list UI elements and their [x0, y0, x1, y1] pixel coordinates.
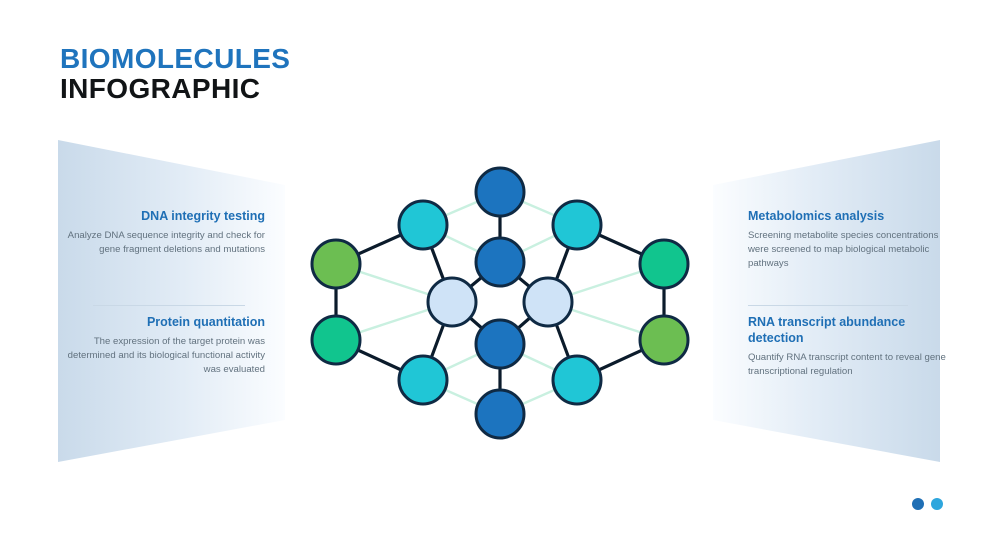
page-indicator-dots[interactable] — [912, 498, 943, 510]
card-rna-title: RNA transcript abundance detection — [748, 314, 950, 346]
node-cyan-upper-left[interactable] — [399, 201, 447, 249]
right-panel-content: Metabolomics analysis Screening metaboli… — [748, 130, 993, 475]
page-dot-inactive[interactable] — [931, 498, 943, 510]
molecule-network-diagram — [300, 152, 700, 448]
node-cyan-lower-right[interactable] — [553, 356, 601, 404]
node-green-outer-upper-right[interactable] — [640, 240, 688, 288]
node-green-outer-lower-left[interactable] — [312, 316, 360, 364]
page-dot-active[interactable] — [912, 498, 924, 510]
card-protein-quantitation: Protein quantitation The expression of t… — [63, 314, 265, 377]
node-dark-blue-top[interactable] — [476, 168, 524, 216]
card-rna-body: Quantify RNA transcript content to revea… — [748, 351, 950, 379]
card-metabolomics-analysis: Metabolomics analysis Screening metaboli… — [748, 208, 950, 271]
card-dna-integrity-testing: DNA integrity testing Analyze DNA sequen… — [63, 208, 265, 257]
card-dna-body: Analyze DNA sequence integrity and check… — [63, 229, 265, 257]
card-metabolomics-title: Metabolomics analysis — [748, 208, 950, 224]
card-protein-body: The expression of the target protein was… — [63, 335, 265, 377]
left-panel-divider — [93, 305, 245, 306]
node-green-outer-upper-left[interactable] — [312, 240, 360, 288]
page-title: BIOMOLECULES INFOGRAPHIC — [60, 44, 290, 104]
node-light-blue-hub-left[interactable] — [428, 278, 476, 326]
page-title-line-2: INFOGRAPHIC — [60, 74, 290, 104]
node-cyan-upper-right[interactable] — [553, 201, 601, 249]
left-panel-content: DNA integrity testing Analyze DNA sequen… — [45, 130, 295, 475]
right-panel-divider — [748, 305, 908, 306]
slide-canvas: BIOMOLECULES INFOGRAPHIC — [0, 0, 993, 558]
node-cyan-lower-left[interactable] — [399, 356, 447, 404]
card-rna-transcript-abundance-detection: RNA transcript abundance detection Quant… — [748, 314, 950, 379]
network-svg — [300, 152, 700, 448]
node-dark-blue-lower-center[interactable] — [476, 320, 524, 368]
node-green-outer-lower-right[interactable] — [640, 316, 688, 364]
node-light-blue-hub-right[interactable] — [524, 278, 572, 326]
card-protein-title: Protein quantitation — [63, 314, 265, 330]
node-dark-blue-upper-center[interactable] — [476, 238, 524, 286]
card-metabolomics-body: Screening metabolite species concentrati… — [748, 229, 950, 271]
node-dark-blue-bottom[interactable] — [476, 390, 524, 438]
card-dna-title: DNA integrity testing — [63, 208, 265, 224]
page-title-line-1: BIOMOLECULES — [60, 44, 290, 74]
